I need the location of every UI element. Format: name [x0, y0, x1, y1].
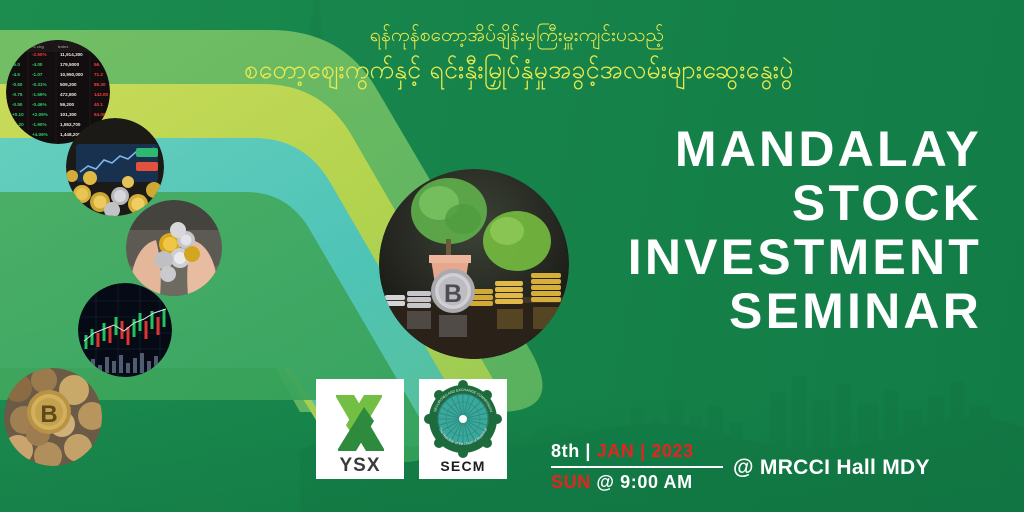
- svg-text:89.30: 89.30: [94, 82, 106, 87]
- svg-text:-0.50: -0.50: [12, 102, 23, 107]
- secm-logo-card: SECURITIES AND EXCHANGE COMMISSION The R…: [419, 379, 507, 479]
- event-venue: @ MRCCI Hall MDY: [733, 456, 930, 480]
- svg-text:40.1: 40.1: [94, 102, 103, 107]
- title-line-2: STOCK: [362, 176, 982, 230]
- svg-text:% chg: % chg: [32, 44, 44, 49]
- svg-text:Index: Index: [58, 44, 69, 49]
- svg-text:-0.50: -0.50: [12, 82, 23, 87]
- svg-text:11,914,300: 11,914,300: [60, 52, 83, 57]
- title-line-3: INVESTMENT: [362, 230, 982, 284]
- svg-text:509,200: 509,200: [60, 82, 77, 87]
- event-poster: -6.0-4.5 -0.50-0.75 -0.50+0.10 +1.20+1.0…: [0, 0, 1024, 512]
- svg-text:-1.90%: -1.90%: [32, 122, 47, 127]
- event-weekday: SUN: [551, 472, 591, 492]
- svg-text:-0.31%: -0.31%: [32, 82, 47, 87]
- event-day: 8th: [551, 441, 580, 461]
- svg-text:+0.10: +0.10: [12, 112, 24, 117]
- svg-text:SECM: SECM: [440, 458, 485, 474]
- svg-text:10,950,000: 10,950,000: [60, 72, 83, 77]
- svg-text:179,5000: 179,5000: [60, 62, 80, 67]
- svg-text:472,800: 472,800: [60, 92, 77, 97]
- date-divider: [551, 466, 723, 468]
- secm-seal-icon: SECURITIES AND EXCHANGE COMMISSION The R…: [424, 380, 502, 458]
- title-line-4: SEMINAR: [362, 284, 982, 338]
- event-month: JAN: [597, 441, 635, 461]
- svg-text:-0.46%: -0.46%: [32, 102, 47, 107]
- svg-text:1,552,700: 1,552,700: [60, 122, 81, 127]
- event-time: @ 9:00 AM: [596, 472, 692, 492]
- photo-bitcoin-pile: B: [4, 368, 102, 466]
- svg-text:-1.07: -1.07: [32, 72, 43, 77]
- svg-text:101,300: 101,300: [60, 112, 77, 117]
- svg-text:142.00: 142.00: [94, 92, 108, 97]
- svg-text:56.: 56.: [94, 62, 100, 67]
- ysx-logo-card: YSX: [316, 379, 404, 479]
- svg-text:-4.5: -4.5: [12, 72, 20, 77]
- photo-candlestick-chart: [78, 283, 172, 377]
- svg-text:-2.50%: -2.50%: [32, 52, 47, 57]
- svg-text:+2.05%: +2.05%: [32, 112, 48, 117]
- event-time-line: SUN @ 9:00 AM: [551, 471, 723, 494]
- photo-hands-coins: [126, 200, 222, 296]
- svg-text:-1.59%: -1.59%: [32, 92, 47, 97]
- photo-coins-chart: [66, 118, 164, 216]
- svg-text:+4.06%: +4.06%: [32, 132, 48, 137]
- title-line-1: MANDALAY: [362, 122, 982, 176]
- svg-text:-0.75: -0.75: [12, 92, 23, 97]
- event-year: 2023: [651, 441, 693, 461]
- date-separator-2: |: [640, 441, 646, 461]
- page-title: MANDALAY STOCK INVESTMENT SEMINAR: [362, 122, 982, 338]
- svg-text:B: B: [40, 401, 57, 428]
- svg-text:71.2: 71.2: [94, 72, 103, 77]
- event-date-line: 8th | JAN | 2023: [551, 440, 723, 463]
- svg-text:59,200: 59,200: [60, 102, 74, 107]
- svg-text:YSX: YSX: [339, 455, 380, 476]
- svg-text:-4.00: -4.00: [32, 62, 43, 67]
- event-datetime: 8th | JAN | 2023 SUN @ 9:00 AM: [551, 440, 723, 493]
- date-separator-1: |: [585, 441, 591, 461]
